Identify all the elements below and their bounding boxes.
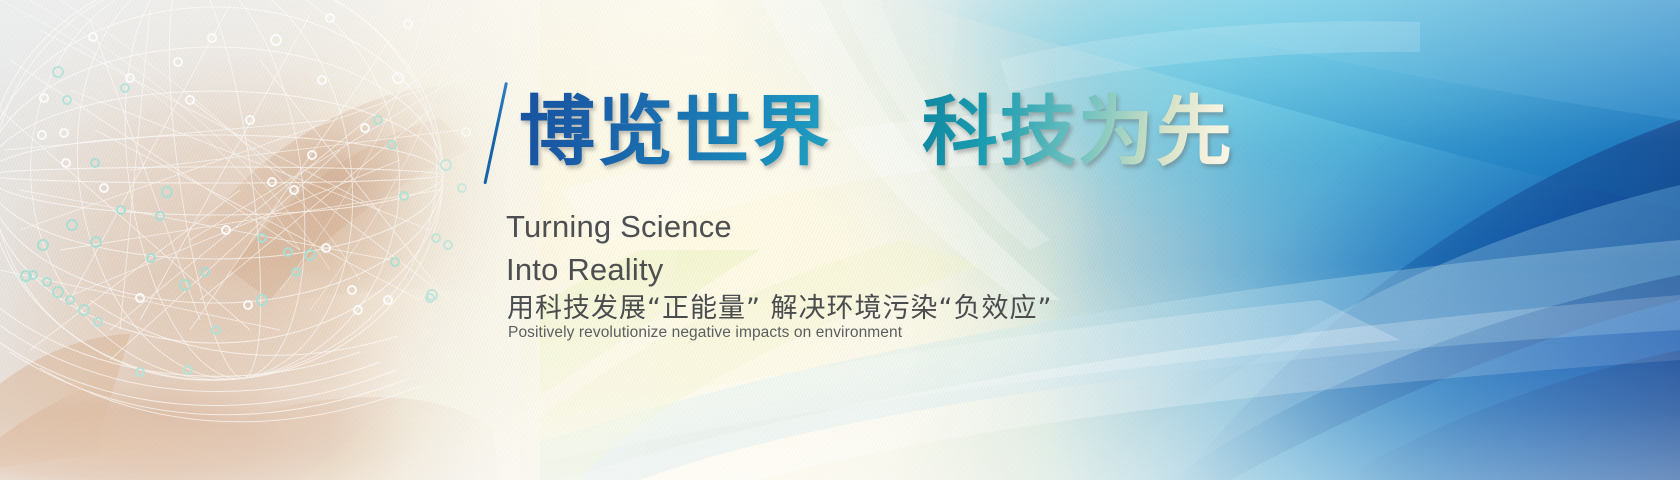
tagline-english: Positively revolutionize negative impact… (508, 324, 902, 342)
hand-holding-network-globe (0, 0, 1680, 480)
headline: 博览世界 科技为先 (519, 94, 1234, 170)
tagline-chinese: 用科技发展“正能量” 解决环境污染“负效应” (507, 286, 1053, 325)
headline-part-2: 科技为先 (922, 87, 1234, 176)
subtitle-english: Turning Science Into Reality (506, 206, 732, 292)
headline-part-1: 博览世界 (519, 87, 831, 176)
subtitle-line-1: Turning Science (506, 206, 732, 249)
hero-banner: 博览世界 科技为先 Turning Science Into Reality 用… (0, 0, 1680, 480)
